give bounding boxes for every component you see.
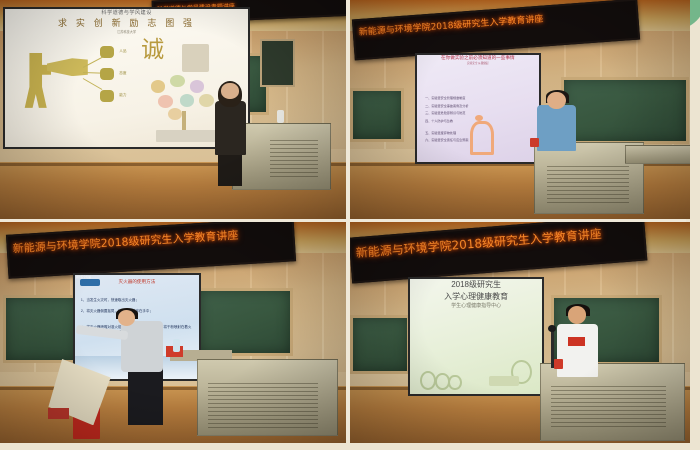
chalkboard-left — [3, 295, 78, 363]
red-box — [48, 408, 69, 419]
safety-figure-illustration — [469, 115, 489, 149]
slide-node-icon — [100, 46, 115, 58]
slide-figure-caption: 实验安全 从我做起 — [417, 61, 539, 65]
shirt-logo — [568, 337, 585, 346]
slide-decor-circle — [420, 371, 436, 390]
window — [260, 39, 295, 87]
slide-decor-circle — [448, 375, 461, 390]
speaker-body — [537, 105, 576, 151]
bonsai-illustration — [182, 44, 209, 72]
slide-subtitle: 学生心理健康指导中心 — [410, 302, 543, 309]
podium-vent — [270, 140, 318, 179]
chalkboard-left — [350, 88, 404, 142]
projection-screen: 在你做实验之前必须知道的一些事情 一、实验室安全管理规章制度 二、实验室安全事故… — [415, 53, 541, 164]
chalkboard-right — [561, 77, 689, 144]
megaphone-icon — [47, 58, 88, 76]
speaker-body — [121, 321, 163, 372]
slide-node-icon — [100, 90, 115, 102]
speaker-head — [221, 83, 238, 98]
slide-badge-shape — [80, 279, 100, 286]
cup — [530, 138, 539, 147]
photo-bottom-left[interactable]: 新能源与环境学院2018级研究生入学教育讲座 消防安全知识 灭火器的使用方法 1… — [0, 222, 346, 443]
projection-screen: 科学道德与学风建设 人品 态度 能力 诚 — [3, 7, 249, 149]
connector-line — [83, 78, 102, 90]
speaker-body — [215, 101, 246, 156]
tree-node — [190, 80, 205, 92]
tree-node — [151, 80, 166, 92]
water-bottle — [173, 339, 180, 352]
photo-top-right[interactable]: 新能源与环境学院2018级研究生入学教育讲座 在你做实验之前必须知道的一些事情 … — [350, 0, 690, 219]
photo-bottom-right[interactable]: 新能源与环境学院2018级研究生入学教育讲座 2018级研究生 入学心理健康教育… — [350, 222, 690, 443]
speaker-legs — [218, 151, 242, 186]
slide-footer-bar — [156, 130, 224, 142]
speaker-legs — [128, 368, 163, 425]
podium-vent — [547, 166, 629, 205]
figure-head — [475, 115, 483, 121]
speaker-body — [557, 324, 598, 377]
projection-screen: 2018级研究生 入学心理健康教育 学生心理健康指导中心 — [408, 277, 545, 396]
slide-title-line-2: 入学心理健康教育 — [410, 291, 543, 302]
tree-node — [180, 94, 195, 106]
speaker-head — [568, 306, 587, 324]
slide-bullet: 二、实验室安全事故案例及分析 — [425, 103, 532, 108]
slide-title-line-1: 2018级研究生 — [410, 279, 543, 291]
photo-collage: 科学道德与学风建设专题讲座 科学道德与学风建设 人品 态度 能力 诚 — [0, 0, 686, 440]
megaphone-person-icon — [20, 53, 51, 108]
water-bottle — [277, 110, 284, 123]
podium-vent — [551, 386, 667, 430]
slide-bullet: 一、实验室安全管理规章制度 — [425, 95, 532, 100]
tree-node — [158, 95, 173, 107]
calligraphy-character: 诚 — [141, 39, 177, 72]
slide-slogan: 求 实 创 新 励 志 图 强 — [5, 16, 247, 29]
slide-decor-bar — [489, 376, 518, 386]
tree-node — [170, 75, 185, 87]
slide-footer-text: 江苏科技大学 — [5, 29, 247, 34]
node-label-1: 态度 — [119, 71, 126, 76]
tree-node — [168, 108, 183, 120]
slide-node-icon — [100, 68, 115, 80]
side-desk — [625, 145, 690, 165]
slide-bullet: 1、当发生火灾时，快速取出灭火器； — [81, 298, 193, 303]
podium-vent — [208, 383, 319, 427]
slide-title: 科学道德与学风建设 — [5, 9, 247, 16]
chalkboard-right — [197, 288, 293, 356]
chalkboard-left — [350, 315, 410, 374]
figure-body — [470, 121, 494, 154]
cup — [554, 359, 563, 369]
speaker-head — [118, 310, 135, 325]
tree-node — [199, 94, 214, 106]
node-label-2: 能力 — [119, 93, 126, 98]
photo-top-left[interactable]: 科学道德与学风建设专题讲座 科学道德与学风建设 人品 态度 能力 诚 — [0, 0, 346, 219]
node-label-0: 人品 — [119, 49, 126, 54]
